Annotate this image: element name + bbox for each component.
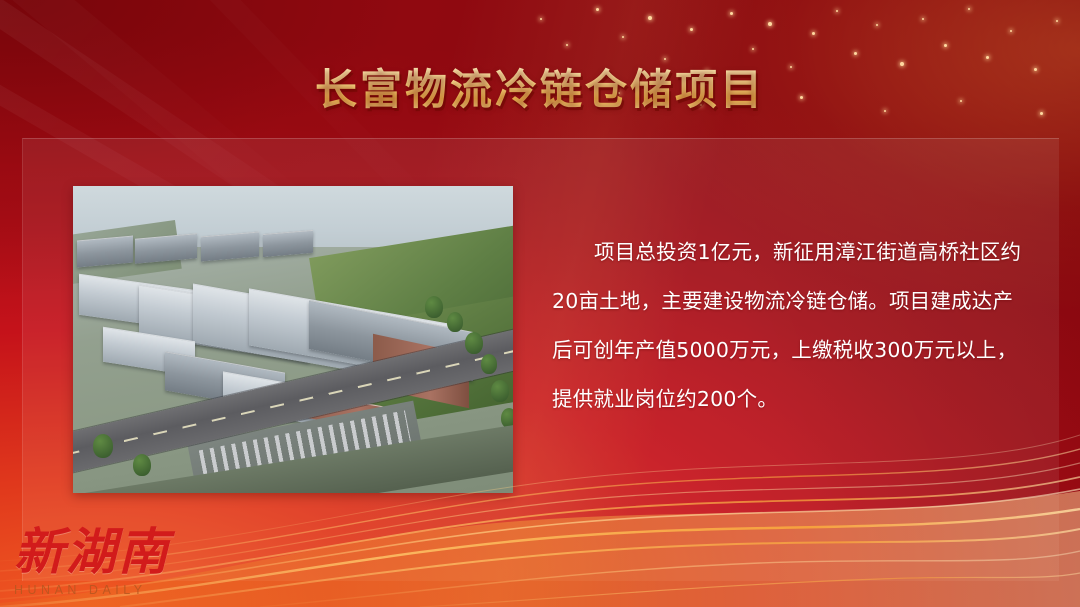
image-distant-building-3: [201, 231, 259, 261]
image-distant-building-4: [263, 230, 313, 257]
watermark-english-text: HUNAN DAILY: [14, 583, 170, 597]
project-description: 项目总投资1亿元，新征用漳江街道高桥社区约20亩土地，主要建设物流冷链仓储。项目…: [552, 228, 1030, 424]
image-tree: [491, 380, 509, 402]
page-title: 长富物流冷链仓储项目: [315, 56, 765, 117]
image-tree: [481, 354, 497, 374]
image-distant-building-1: [77, 236, 133, 268]
body-text-container: 项目总投资1亿元，新征用漳江街道高桥社区约20亩土地，主要建设物流冷链仓储。项目…: [552, 228, 1030, 424]
page-title-container: 长富物流冷链仓储项目: [0, 56, 1080, 117]
watermark-chinese-text: 新湖南: [14, 527, 170, 577]
project-rendering-image: [73, 186, 513, 493]
image-tree: [465, 332, 483, 354]
watermark-logo: 新湖南 HUNAN DAILY: [14, 527, 170, 597]
slide-canvas: 长富物流冷链仓储项目 长富物流冷链仓储项目: [0, 0, 1080, 607]
image-tree: [425, 296, 443, 318]
image-tree: [93, 434, 113, 458]
image-tree: [447, 312, 463, 332]
image-tree: [133, 454, 151, 476]
